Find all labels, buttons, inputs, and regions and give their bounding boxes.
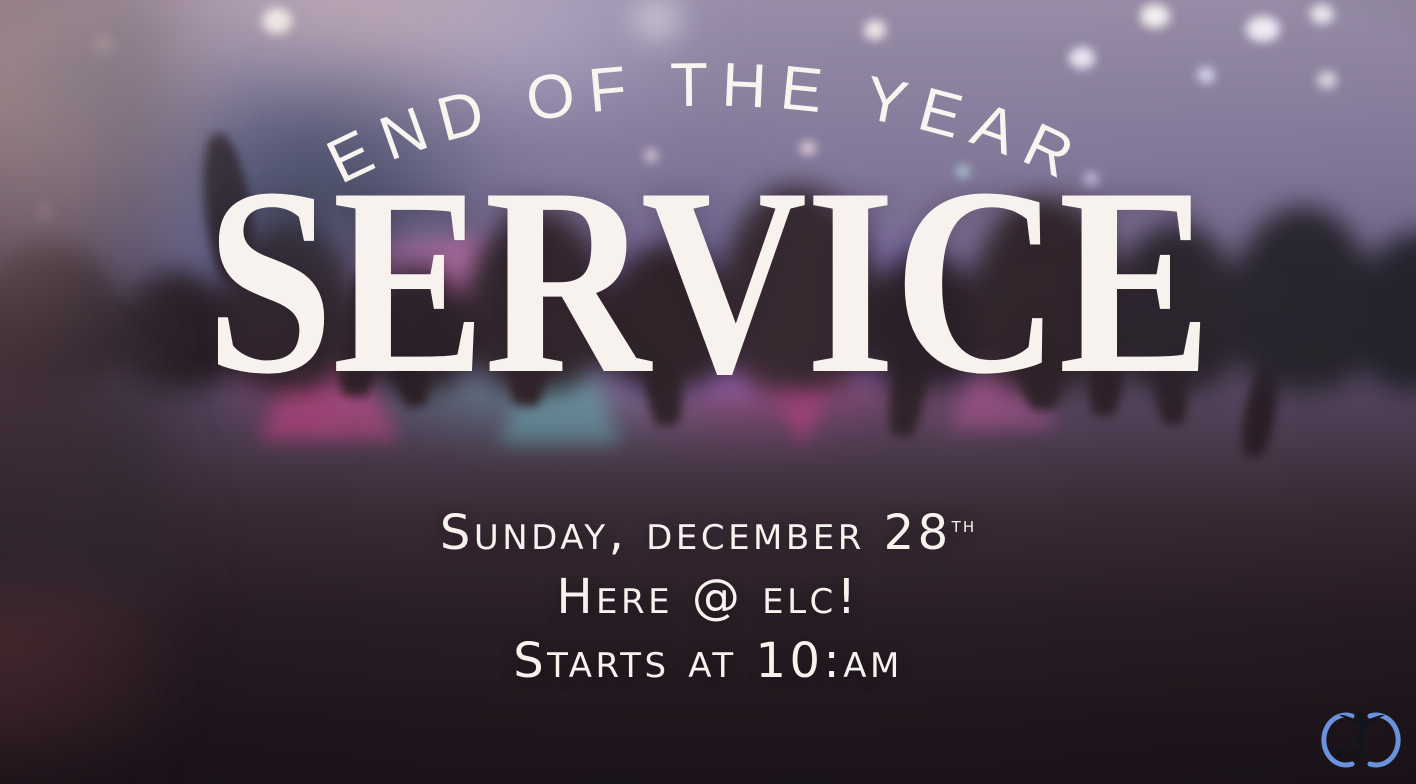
- event-date-line: Sunday, December 28th: [0, 494, 1416, 565]
- event-details: Sunday, December 28th Here @ ELC! Starts…: [0, 494, 1416, 693]
- logo-wordmark: ELC: [1335, 748, 1361, 760]
- event-time-line: Starts at 10:am: [0, 629, 1416, 693]
- event-date-ordinal: th: [952, 513, 976, 538]
- event-location-line: Here @ ELC!: [0, 565, 1416, 629]
- elc-logo: ELC: [1318, 696, 1402, 772]
- event-date-text: Sunday, December 28: [440, 505, 952, 561]
- page-title: SERVICE: [99, 176, 1317, 385]
- flyer-canvas: END OF THE YEAR SERVICE Sunday, December…: [0, 0, 1416, 784]
